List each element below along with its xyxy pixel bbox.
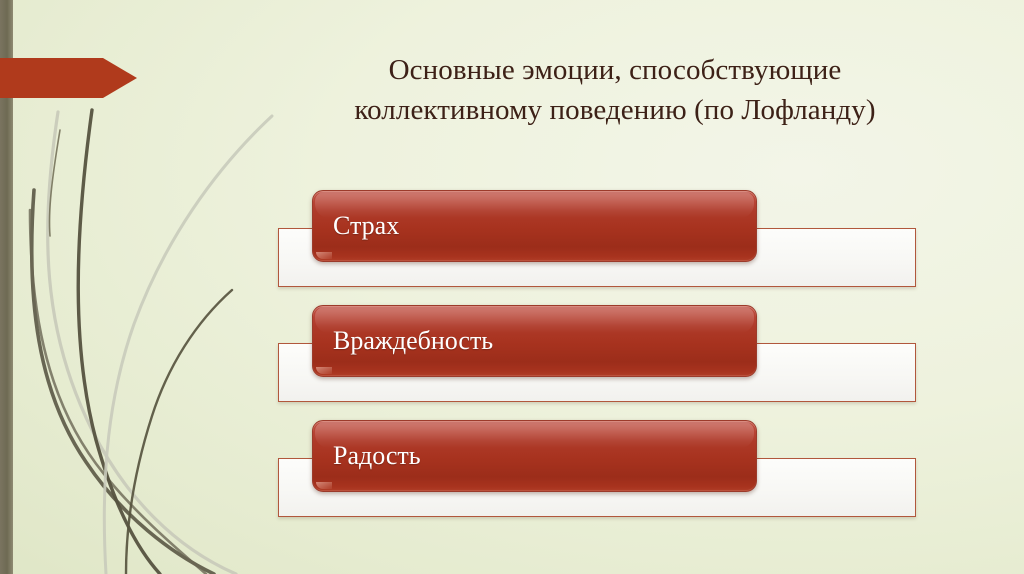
diagram-row: Враждебность xyxy=(278,305,918,405)
emotion-chip-2[interactable]: Враждебность xyxy=(312,305,757,377)
emotion-label: Радость xyxy=(333,443,421,469)
emotions-diagram: Страх Враждебность Радость xyxy=(0,0,1024,574)
diagram-row: Страх xyxy=(278,190,918,290)
slide-canvas: Основные эмоции, способствующие коллекти… xyxy=(0,0,1024,574)
emotion-chip-3[interactable]: Радость xyxy=(312,420,757,492)
emotion-chip-1[interactable]: Страх xyxy=(312,190,757,262)
emotion-label: Враждебность xyxy=(333,328,493,354)
diagram-row: Радость xyxy=(278,420,918,520)
emotion-label: Страх xyxy=(333,213,399,239)
